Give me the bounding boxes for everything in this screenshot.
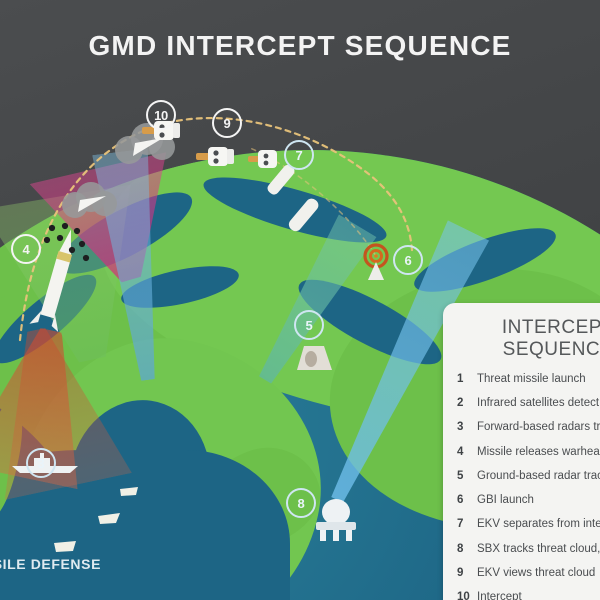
naval-asset-icon (96, 512, 122, 526)
legend-number: 5 (457, 470, 477, 483)
threat-cloud-lower (60, 178, 120, 224)
legend-number: 3 (457, 421, 477, 434)
legend-number: 9 (457, 567, 477, 580)
ground-based-radar-icon (294, 340, 334, 378)
legend-row: 1 Threat missile launch (443, 373, 600, 386)
legend-number: 6 (457, 494, 477, 507)
step-marker-7[interactable]: 7 (284, 140, 314, 170)
legend-row: 5 Ground-based radar tracks threat cloud (443, 470, 600, 483)
legend-row: 10 Intercept (443, 591, 600, 600)
legend-text: Missile releases warhead and decoys (477, 446, 600, 459)
page-title: GMD INTERCEPT SEQUENCE (0, 30, 600, 62)
sbx-radar-platform-icon (310, 495, 362, 541)
step-marker-10[interactable]: 10 (146, 100, 176, 130)
legend-number: 1 (457, 373, 477, 386)
legend-number: 4 (457, 446, 477, 459)
step-marker-5[interactable]: 5 (294, 310, 324, 340)
legend-heading: INTERCEPT SEQUENCE (443, 317, 600, 361)
legend-number: 8 (457, 543, 477, 556)
legend-number: 2 (457, 397, 477, 410)
legend-text: Threat missile launch (477, 373, 600, 386)
naval-asset-icon (52, 540, 78, 554)
legend-text: Ground-based radar tracks threat cloud (477, 470, 600, 483)
infographic-canvas: 10 9 7 6 5 8 4 3 GMD INTERCEPT SEQUENCE … (0, 0, 600, 600)
legend-text: SBX tracks threat cloud, attempts discri… (477, 543, 600, 556)
legend-row: 4 Missile releases warhead and decoys (443, 446, 600, 459)
legend-row: 3 Forward-based radars track missile (443, 421, 600, 434)
legend-row: 2 Infrared satellites detect launch (443, 397, 600, 410)
legend-text: Infrared satellites detect launch (477, 397, 600, 410)
legend-text: EKV separates from interceptor (477, 518, 600, 531)
step-marker-8[interactable]: 8 (286, 488, 316, 518)
step-marker-3[interactable]: 3 (26, 448, 56, 478)
legend-row: 6 GBI launch (443, 494, 600, 507)
legend-row: 7 EKV separates from interceptor (443, 518, 600, 531)
brand-label: MISSILE DEFENSE (0, 556, 101, 572)
step-marker-4[interactable]: 4 (11, 234, 41, 264)
legend-row: 8 SBX tracks threat cloud, attempts disc… (443, 543, 600, 556)
legend-text: Intercept (477, 591, 600, 600)
legend-number: 10 (457, 591, 477, 600)
legend-row: 9 EKV views threat cloud (443, 567, 600, 580)
step-marker-6[interactable]: 6 (393, 245, 423, 275)
legend-panel: INTERCEPT SEQUENCE 1 Threat missile laun… (443, 303, 600, 600)
ekv-view-icon (194, 140, 240, 172)
step-marker-9[interactable]: 9 (212, 108, 242, 138)
legend-text: EKV views threat cloud (477, 567, 600, 580)
naval-asset-icon (118, 486, 140, 498)
legend-number: 7 (457, 518, 477, 531)
legend-text: GBI launch (477, 494, 600, 507)
legend-text: Forward-based radars track missile (477, 421, 600, 434)
